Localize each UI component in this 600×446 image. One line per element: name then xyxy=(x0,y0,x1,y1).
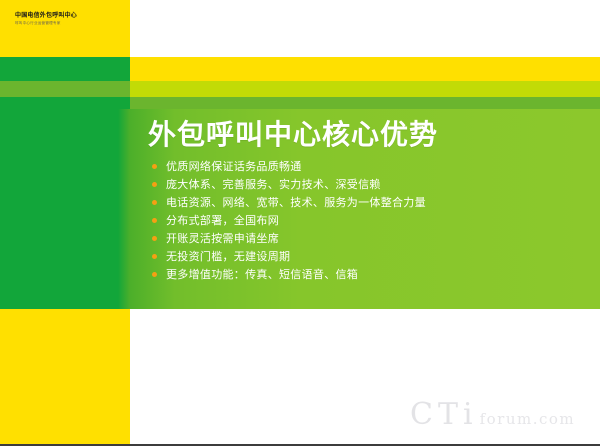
slide-canvas: 中国电信外包呼叫中心 呼叫中心行业运营管理专家 外包呼叫中心核心优势 优质网络保… xyxy=(0,0,600,446)
brand-tagline: 呼叫中心行业运营管理专家 xyxy=(15,21,61,26)
list-item: 庞大体系、完善服务、实力技术、深受信赖 xyxy=(152,176,572,193)
bullet-dot-icon xyxy=(152,236,157,241)
list-item: 优质网络保证话务品质畅通 xyxy=(152,158,572,175)
list-item: 电话资源、网络、宽带、技术、服务为一体整合力量 xyxy=(152,194,572,211)
bullet-dot-icon xyxy=(152,218,157,223)
bullet-dot-icon xyxy=(152,164,157,169)
advantage-list: 优质网络保证话务品质畅通庞大体系、完善服务、实力技术、深受信赖电话资源、网络、宽… xyxy=(152,158,572,284)
bullet-dot-icon xyxy=(152,254,157,259)
watermark: CTi forum.com xyxy=(410,400,575,430)
list-item-label: 开账灵活按需申请坐席 xyxy=(166,231,279,246)
list-item: 无投资门槛，无建设周期 xyxy=(152,248,572,265)
left-accent-column-lime-band xyxy=(0,81,130,97)
page-title: 外包呼叫中心核心优势 xyxy=(148,118,438,152)
list-item-label: 优质网络保证话务品质畅通 xyxy=(166,159,302,174)
bullet-dot-icon xyxy=(152,182,157,187)
bullet-dot-icon xyxy=(152,200,157,205)
watermark-primary: CTi xyxy=(410,400,478,430)
list-item: 开账灵活按需申请坐席 xyxy=(152,230,572,247)
list-item: 分布式部署，全国布网 xyxy=(152,212,572,229)
list-item-label: 庞大体系、完善服务、实力技术、深受信赖 xyxy=(166,177,381,192)
list-item-label: 分布式部署，全国布网 xyxy=(166,213,279,228)
brand-name: 中国电信外包呼叫中心 xyxy=(15,12,77,20)
list-item-label: 更多增值功能：传真、短信语音、信箱 xyxy=(166,267,358,282)
bottom-yellow-block xyxy=(0,309,130,444)
watermark-secondary: forum.com xyxy=(480,412,576,427)
list-item-label: 无投资门槛，无建设周期 xyxy=(166,249,290,264)
logo-block: 中国电信外包呼叫中心 呼叫中心行业运营管理专家 xyxy=(0,0,130,57)
list-item: 更多增值功能：传真、短信语音、信箱 xyxy=(152,266,572,283)
list-item-label: 电话资源、网络、宽带、技术、服务为一体整合力量 xyxy=(166,195,426,210)
bullet-dot-icon xyxy=(152,272,157,277)
